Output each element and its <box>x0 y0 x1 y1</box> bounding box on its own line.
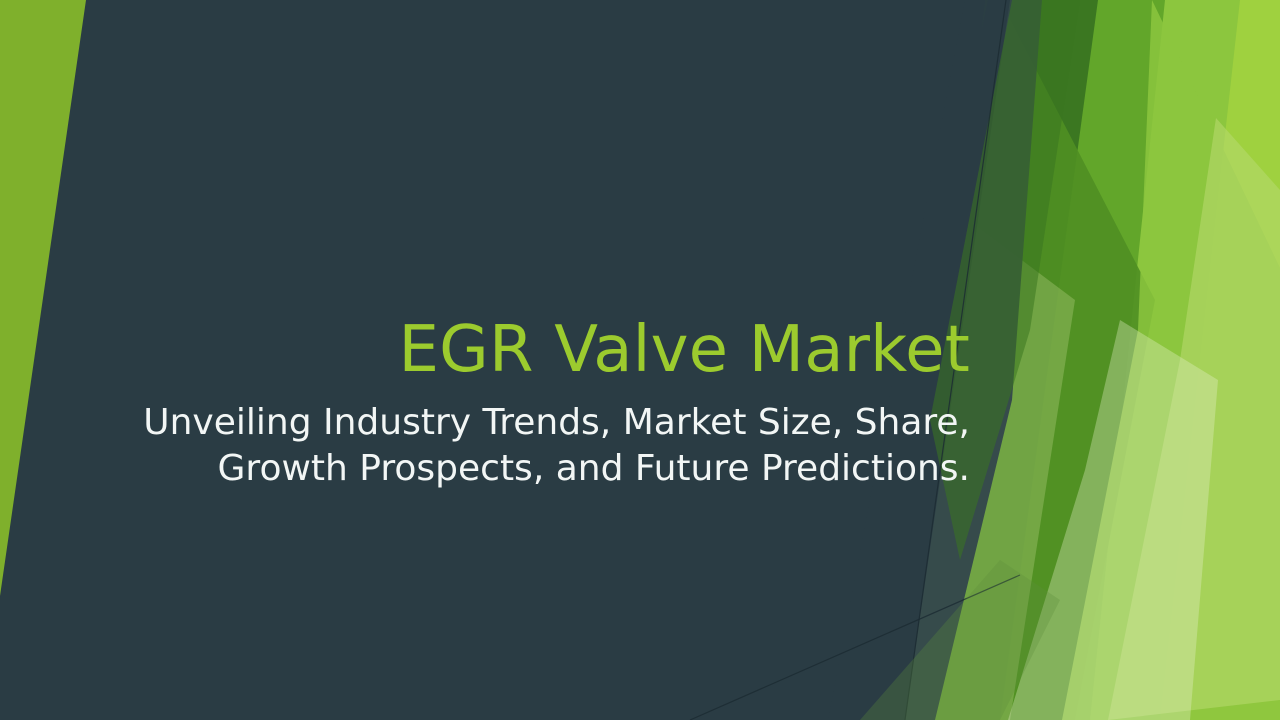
presentation-slide: EGR Valve Market Unveiling Industry Tren… <box>0 0 1280 720</box>
page-title: EGR Valve Market <box>120 318 970 382</box>
slide-subtitle: Unveiling Industry Trends, Market Size, … <box>120 400 970 492</box>
title-text-block: EGR Valve Market Unveiling Industry Tren… <box>120 318 970 492</box>
